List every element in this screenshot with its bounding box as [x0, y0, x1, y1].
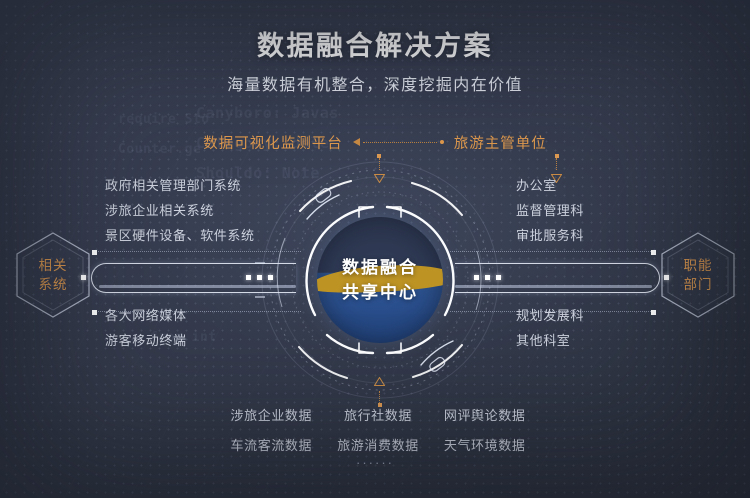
hexagon-left-line1: 相关	[39, 256, 68, 275]
list-item[interactable]: 审批服务科	[516, 223, 584, 248]
list-item[interactable]: 游客移动终端	[105, 328, 187, 353]
data-fusion-core: 数据融合 共享中心	[255, 155, 505, 405]
center-line2: 共享中心	[342, 280, 418, 305]
bottom-data-grid: 涉旅企业数据 旅行社数据 网评舆论数据 车流客流数据 旅游消费数据 天气环境数据	[218, 403, 538, 458]
infographic-canvas: Canyboro: Javas Category: dele Shouldo: …	[0, 0, 750, 498]
list-item[interactable]: 办公室	[516, 173, 584, 198]
right-departments-bottom: 规划发展科 其他科室	[516, 303, 584, 353]
list-item[interactable]: 政府相关管理部门系统	[105, 173, 255, 198]
label-visualization-platform[interactable]: 数据可视化监测平台	[203, 132, 343, 153]
rail-dot-icon	[92, 310, 97, 315]
hexagon-right-line1: 职能	[684, 256, 713, 275]
center-line1: 数据融合	[342, 255, 418, 280]
data-cell[interactable]: 网评舆论数据	[444, 403, 526, 428]
label-tourism-authority[interactable]: 旅游主管单位	[454, 132, 547, 153]
data-cell[interactable]: 旅行社数据	[344, 403, 412, 428]
hexagon-left-line2: 系统	[39, 275, 68, 294]
center-sphere: 数据融合 共享中心	[317, 217, 443, 343]
left-sources-bottom: 各大网络媒体 游客移动终端	[105, 303, 187, 353]
connector-node-right	[664, 275, 669, 280]
center-sphere-text: 数据融合 共享中心	[317, 217, 443, 343]
connector-node-left	[81, 275, 86, 280]
hexagon-right-text: 职能 部门	[659, 231, 737, 319]
left-sources-top: 政府相关管理部门系统 涉旅企业相关系统 景区硬件设备、软件系统	[105, 173, 255, 248]
rail-dot-icon	[92, 250, 97, 255]
list-item[interactable]: 景区硬件设备、软件系统	[105, 223, 255, 248]
list-item[interactable]: 监督管理科	[516, 198, 584, 223]
list-item[interactable]: 各大网络媒体	[105, 303, 187, 328]
rail-dot-icon	[651, 250, 656, 255]
data-cell[interactable]: 涉旅企业数据	[231, 403, 313, 428]
bottom-more-ellipsis: ······	[0, 455, 750, 470]
dotted-line	[363, 142, 437, 143]
dotted-line	[556, 158, 557, 170]
list-item[interactable]: 规划发展科	[516, 303, 584, 328]
hexagon-functional-departments[interactable]: 职能 部门	[659, 231, 737, 319]
hexagon-right-line2: 部门	[684, 275, 713, 294]
rail-dot-icon	[651, 310, 656, 315]
flow-arrow-left	[353, 138, 444, 146]
page-title: 数据融合解决方案	[0, 24, 750, 63]
list-item[interactable]: 其他科室	[516, 328, 584, 353]
flow-dot-icon	[246, 275, 251, 280]
top-label-row: 数据可视化监测平台 旅游主管单位	[0, 131, 750, 153]
arrow-head-icon	[353, 138, 360, 146]
right-departments-top: 办公室 监督管理科 审批服务科	[516, 173, 584, 248]
watermark-text: Canyboro: Javas	[196, 104, 339, 122]
endpoint-dot-icon	[440, 140, 444, 144]
page-subtitle: 海量数据有机整合，深度挖掘内在价值	[0, 71, 750, 95]
list-item[interactable]: 涉旅企业相关系统	[105, 198, 255, 223]
watermark-text: require Sto	[118, 112, 210, 127]
